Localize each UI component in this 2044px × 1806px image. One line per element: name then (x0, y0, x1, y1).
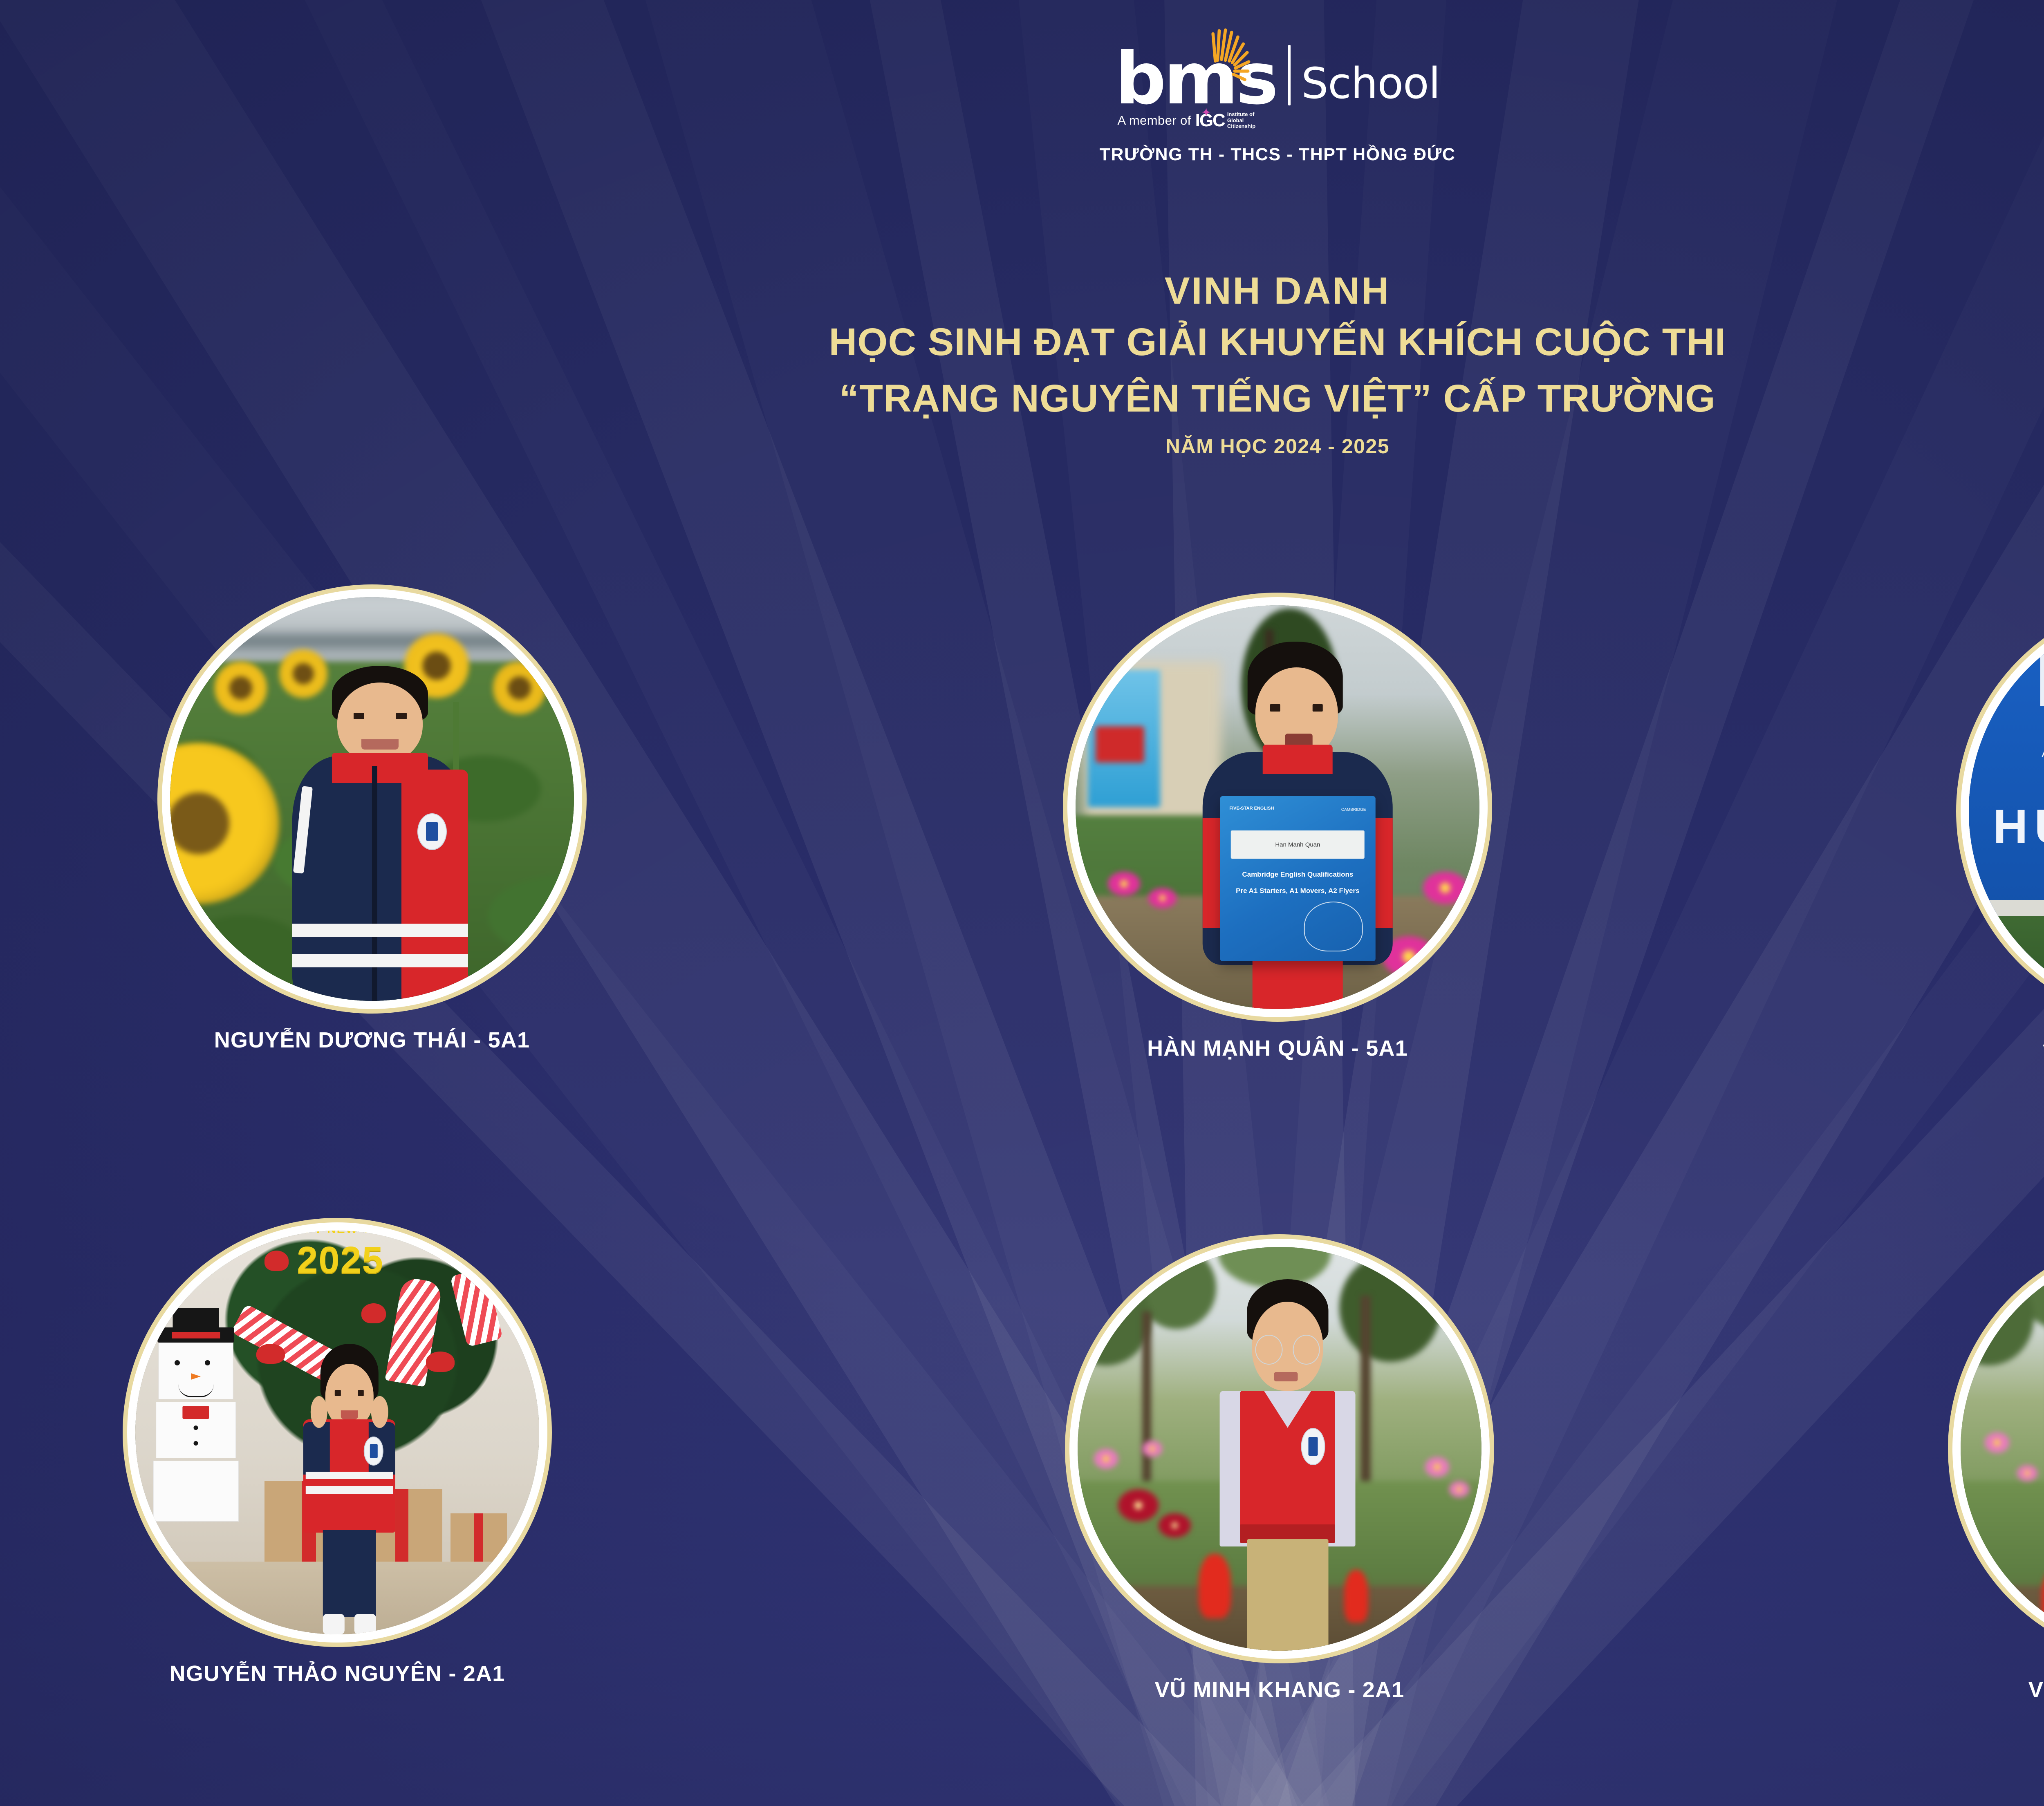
student-photo-6 (1961, 1247, 2044, 1651)
student-card-3[interactable]: bms A member of IGC Institute of Global (1938, 597, 2044, 1065)
student-card-5[interactable]: VŨ MINH KHANG - 2A1 (1047, 1234, 1513, 1703)
portrait-frame-6 (1948, 1234, 2044, 1663)
portrait-inner-ring-5 (1069, 1239, 1490, 1659)
student-photo-5 (1078, 1247, 1481, 1651)
happy-new-year-banner: HAPPY NEW YEAR (277, 1231, 399, 1236)
student-grid: NGUYỄN DƯƠNG THÁI - 5A1 (0, 584, 2044, 1733)
portrait-inner-ring-2: FIVE-STAR ENGLISH CAMBRIDGE Han Manh Qua… (1067, 597, 1488, 1017)
portrait-frame-2: FIVE-STAR ENGLISH CAMBRIDGE Han Manh Qua… (1063, 593, 1492, 1022)
student-card-1[interactable]: NGUYỄN DƯƠNG THÁI - 5A1 (139, 584, 605, 1053)
logo-block: bms School A member of ✦ IGC (1115, 45, 1440, 131)
portrait-inner-ring-4: HAPPY NEW YEAR 2025 (127, 1222, 547, 1643)
portrait-inner-ring-3: bms A member of IGC Institute of Global (1961, 601, 2044, 1021)
student-card-2[interactable]: FIVE-STAR ENGLISH CAMBRIDGE Han Manh Qua… (1044, 593, 1511, 1061)
portrait-frame-3: bms A member of IGC Institute of Global (1956, 597, 2044, 1026)
snowman-decoration (152, 1327, 240, 1546)
school-full-name: TRƯỜNG TH - THCS - THPT HỒNG ĐỨC (0, 145, 2044, 165)
title-line-3: “TRẠNG NGUYÊN TIẾNG VIỆT” CẤP TRƯỜNG (0, 374, 2044, 424)
certificate-line-2: Pre A1 Starters, A1 Movers, A2 Flyers (1229, 887, 1366, 895)
portrait-inner-ring-6 (1952, 1239, 2044, 1659)
portrait-frame-1 (157, 584, 587, 1014)
title-line-1: VINH DANH (0, 270, 2044, 311)
student-photo-3: bms A member of IGC Institute of Global (1969, 609, 2044, 1013)
student-name-4: NGUYỄN THẢO NGUYÊN - 2A1 (104, 1661, 570, 1686)
logo-row: bms School (1115, 45, 1440, 108)
igc-brand: ✦ IGC (1195, 110, 1225, 131)
announcement-titles: VINH DANH HỌC SINH ĐẠT GIẢI KHUYẾN KHÍCH… (0, 270, 2044, 458)
portrait-frame-4: HAPPY NEW YEAR 2025 (123, 1218, 552, 1647)
student-row-2: HAPPY NEW YEAR 2025 (0, 1218, 2044, 1733)
cambridge-mark: CAMBRIDGE (1341, 808, 1366, 812)
sign-location-label: HƯNG YÊN (1993, 799, 2044, 855)
student-photo-4: HAPPY NEW YEAR 2025 (135, 1231, 539, 1634)
igc-tagline-line3: Citizenship (1227, 123, 1255, 130)
sign-bms-wordmark: bms (2033, 638, 2044, 719)
student-name-1: NGUYỄN DƯƠNG THÁI - 5A1 (139, 1027, 605, 1053)
bms-logo: bms (1115, 51, 1276, 108)
student-photo-1 (170, 597, 574, 1001)
title-school-year: NĂM HỌC 2024 - 2025 (0, 434, 2044, 458)
student-name-5: VŨ MINH KHANG - 2A1 (1047, 1677, 1513, 1703)
school-logo-header: bms School A member of ✦ IGC (0, 45, 2044, 165)
student-card-6[interactable]: VŨ GIA PHÚC LÂM - 1A2 (1930, 1234, 2044, 1703)
certificate-student-name: Han Manh Quan (1231, 841, 1365, 848)
portrait-inner-ring-1 (162, 589, 582, 1009)
logo-divider (1288, 45, 1291, 105)
portrait-frame-5 (1065, 1234, 1494, 1663)
sunburst-icon (1183, 25, 1261, 102)
student-photo-2: FIVE-STAR ENGLISH CAMBRIDGE Han Manh Qua… (1076, 605, 1479, 1009)
student-name-2: HÀN MẠNH QUÂN - 5A1 (1044, 1036, 1511, 1061)
school-wordmark: School (1301, 62, 1440, 108)
student-name-3: VŨ NGỌC HUYỀN - 4A1 (1938, 1040, 2044, 1065)
star-icon: ✦ (1202, 106, 1210, 119)
sign-member-label: A member of (2042, 747, 2044, 761)
student-card-4[interactable]: HAPPY NEW YEAR 2025 (104, 1218, 570, 1686)
certificate-brand: FIVE-STAR ENGLISH (1229, 806, 1274, 811)
student-row-1: NGUYỄN DƯƠNG THÁI - 5A1 (0, 584, 2044, 1091)
student-name-6: VŨ GIA PHÚC LÂM - 1A2 (1930, 1677, 2044, 1703)
year-sign-2025: 2025 (297, 1239, 384, 1282)
monkey-mascot-icon (1304, 902, 1363, 951)
certificate-line-1: Cambridge English Qualifications (1229, 871, 1366, 879)
title-line-2: HỌC SINH ĐẠT GIẢI KHUYẾN KHÍCH CUỘC THI (0, 317, 2044, 368)
certificate-nameplate: Han Manh Quan (1231, 830, 1365, 859)
